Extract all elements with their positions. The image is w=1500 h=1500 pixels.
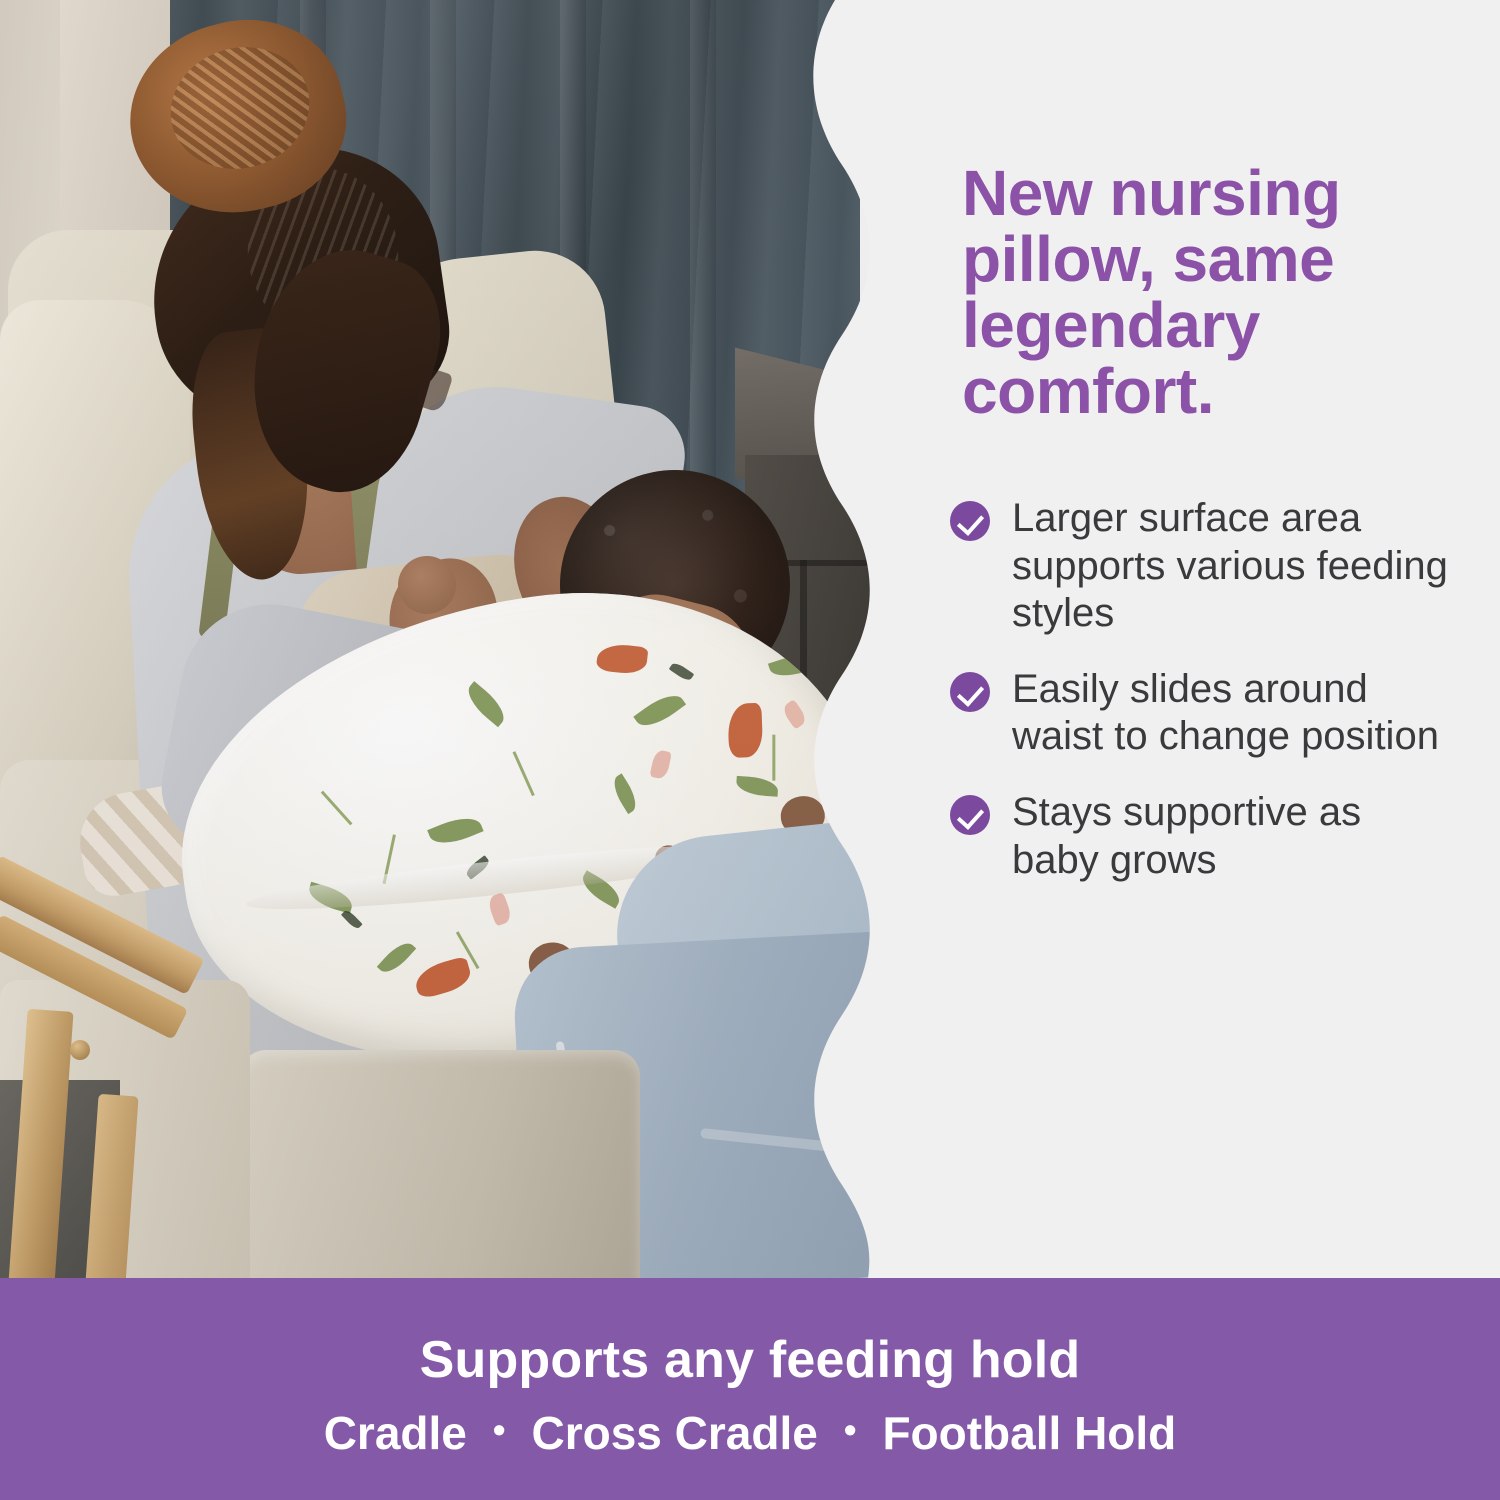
wavy-divider — [780, 0, 920, 1278]
list-item: Easily slides around waist to change pos… — [950, 666, 1450, 761]
banner-hold-list: Cradle • Cross Cradle • Football Hold — [0, 1406, 1500, 1460]
armchair-cushion — [240, 1050, 640, 1278]
hold-cross-cradle: Cross Cradle — [531, 1406, 817, 1460]
bullet-separator-icon: • — [844, 1412, 857, 1448]
check-circle-icon — [950, 501, 990, 541]
banner-title: Supports any feeding hold — [0, 1330, 1500, 1390]
list-item: Stays supportive as baby grows — [950, 789, 1450, 884]
product-marketing-image: New nursing pillow, same legendary comfo… — [0, 0, 1500, 1500]
check-circle-icon — [950, 672, 990, 712]
bullet-separator-icon: • — [493, 1412, 506, 1448]
feature-list: Larger surface area supports various fee… — [950, 495, 1450, 912]
lifestyle-photo — [0, 0, 900, 1278]
copy-panel: New nursing pillow, same legendary comfo… — [900, 0, 1500, 1278]
hold-football: Football Hold — [882, 1406, 1176, 1460]
feature-text: Stays supportive as baby grows — [1012, 789, 1450, 884]
crib-knob — [70, 1040, 90, 1060]
check-circle-icon — [950, 795, 990, 835]
hold-cradle: Cradle — [324, 1406, 467, 1460]
baby-hand — [398, 556, 456, 614]
list-item: Larger surface area supports various fee… — [950, 495, 1450, 638]
feature-text: Larger surface area supports various fee… — [1012, 495, 1450, 638]
feeding-hold-banner: Supports any feeding hold Cradle • Cross… — [0, 1278, 1500, 1500]
feature-text: Easily slides around waist to change pos… — [1012, 666, 1450, 761]
page-title: New nursing pillow, same legendary comfo… — [962, 161, 1432, 425]
